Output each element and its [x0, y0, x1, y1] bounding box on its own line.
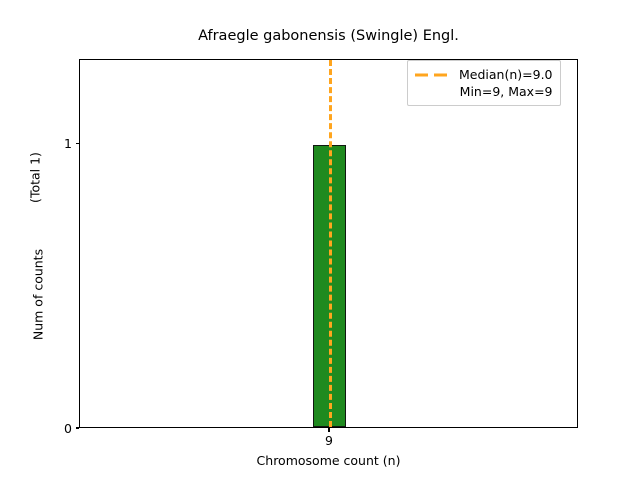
- ytick-mark-1: [76, 143, 80, 144]
- ytick-label-1: 1: [55, 136, 72, 151]
- legend-entry-median: Median(n)=9.0: [414, 66, 553, 83]
- xtick-label-9: 9: [325, 433, 333, 448]
- legend-entry-minmax: Min=9, Max=9: [414, 83, 553, 100]
- chart-title: Afraegle gabonensis (Swingle) Engl.: [79, 28, 578, 44]
- legend-label-minmax: Min=9, Max=9: [460, 84, 553, 99]
- legend: Median(n)=9.0 Min=9, Max=9: [407, 60, 561, 106]
- plot-area: [79, 59, 578, 428]
- ytick-mark-0: [76, 427, 80, 428]
- median-line: [329, 60, 332, 427]
- ytick-label-0: 0: [55, 421, 72, 436]
- xtick-mark-9: [328, 428, 329, 432]
- y-axis-sublabel: (Total 1): [28, 98, 43, 258]
- dashed-line-icon: [414, 69, 450, 81]
- x-axis-label: Chromosome count (n): [79, 453, 578, 468]
- figure-canvas: Afraegle gabonensis (Swingle) Engl. 0 1 …: [0, 0, 640, 480]
- legend-label-median: Median(n)=9.0: [459, 67, 553, 82]
